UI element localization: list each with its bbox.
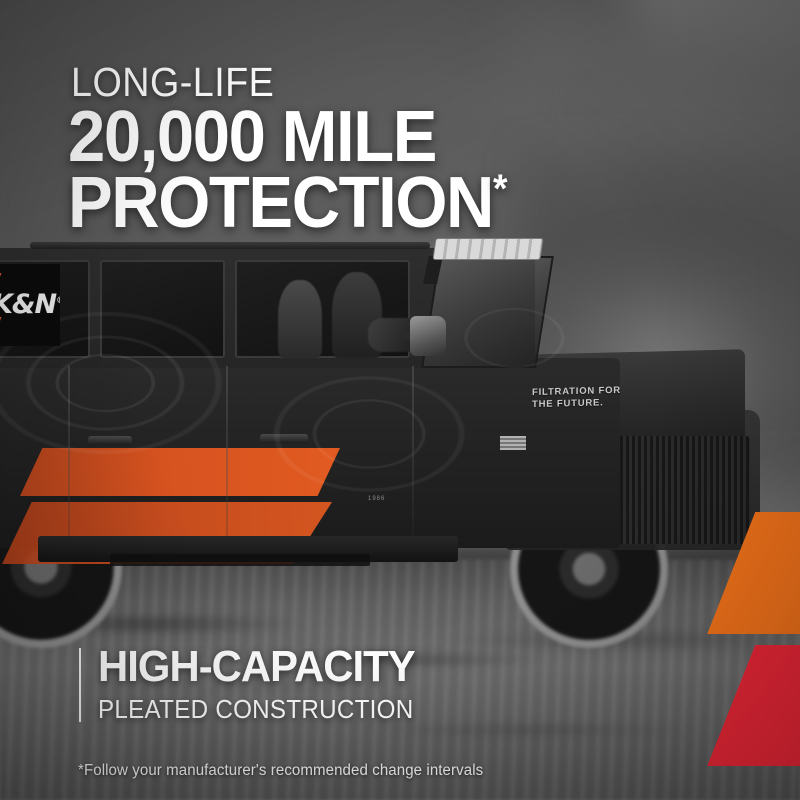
vertical-divider xyxy=(79,648,81,722)
feature-lockup-text: HIGH-CAPACITY PLEATED CONSTRUCTION xyxy=(98,645,437,722)
headline-line-2: PROTECTION* xyxy=(68,170,508,236)
advertisement-banner: 1986 FILTRATION FOR THE FUTURE. K&N® LON… xyxy=(0,0,800,800)
headline: 20,000 MILE PROTECTION* xyxy=(68,104,508,236)
headline-line-2-text: PROTECTION xyxy=(68,163,493,243)
ad-copy-layer: LONG-LIFE 20,000 MILE PROTECTION* HIGH-C… xyxy=(0,0,800,800)
feature-lockup: HIGH-CAPACITY PLEATED CONSTRUCTION xyxy=(68,645,437,722)
headline-asterisk: * xyxy=(493,167,507,211)
feature-title: HIGH-CAPACITY xyxy=(98,645,420,689)
feature-subtitle: PLEATED CONSTRUCTION xyxy=(98,696,413,722)
footnote-text: *Follow your manufacturer's recommended … xyxy=(78,762,483,780)
headline-line-1: 20,000 MILE xyxy=(68,104,508,170)
